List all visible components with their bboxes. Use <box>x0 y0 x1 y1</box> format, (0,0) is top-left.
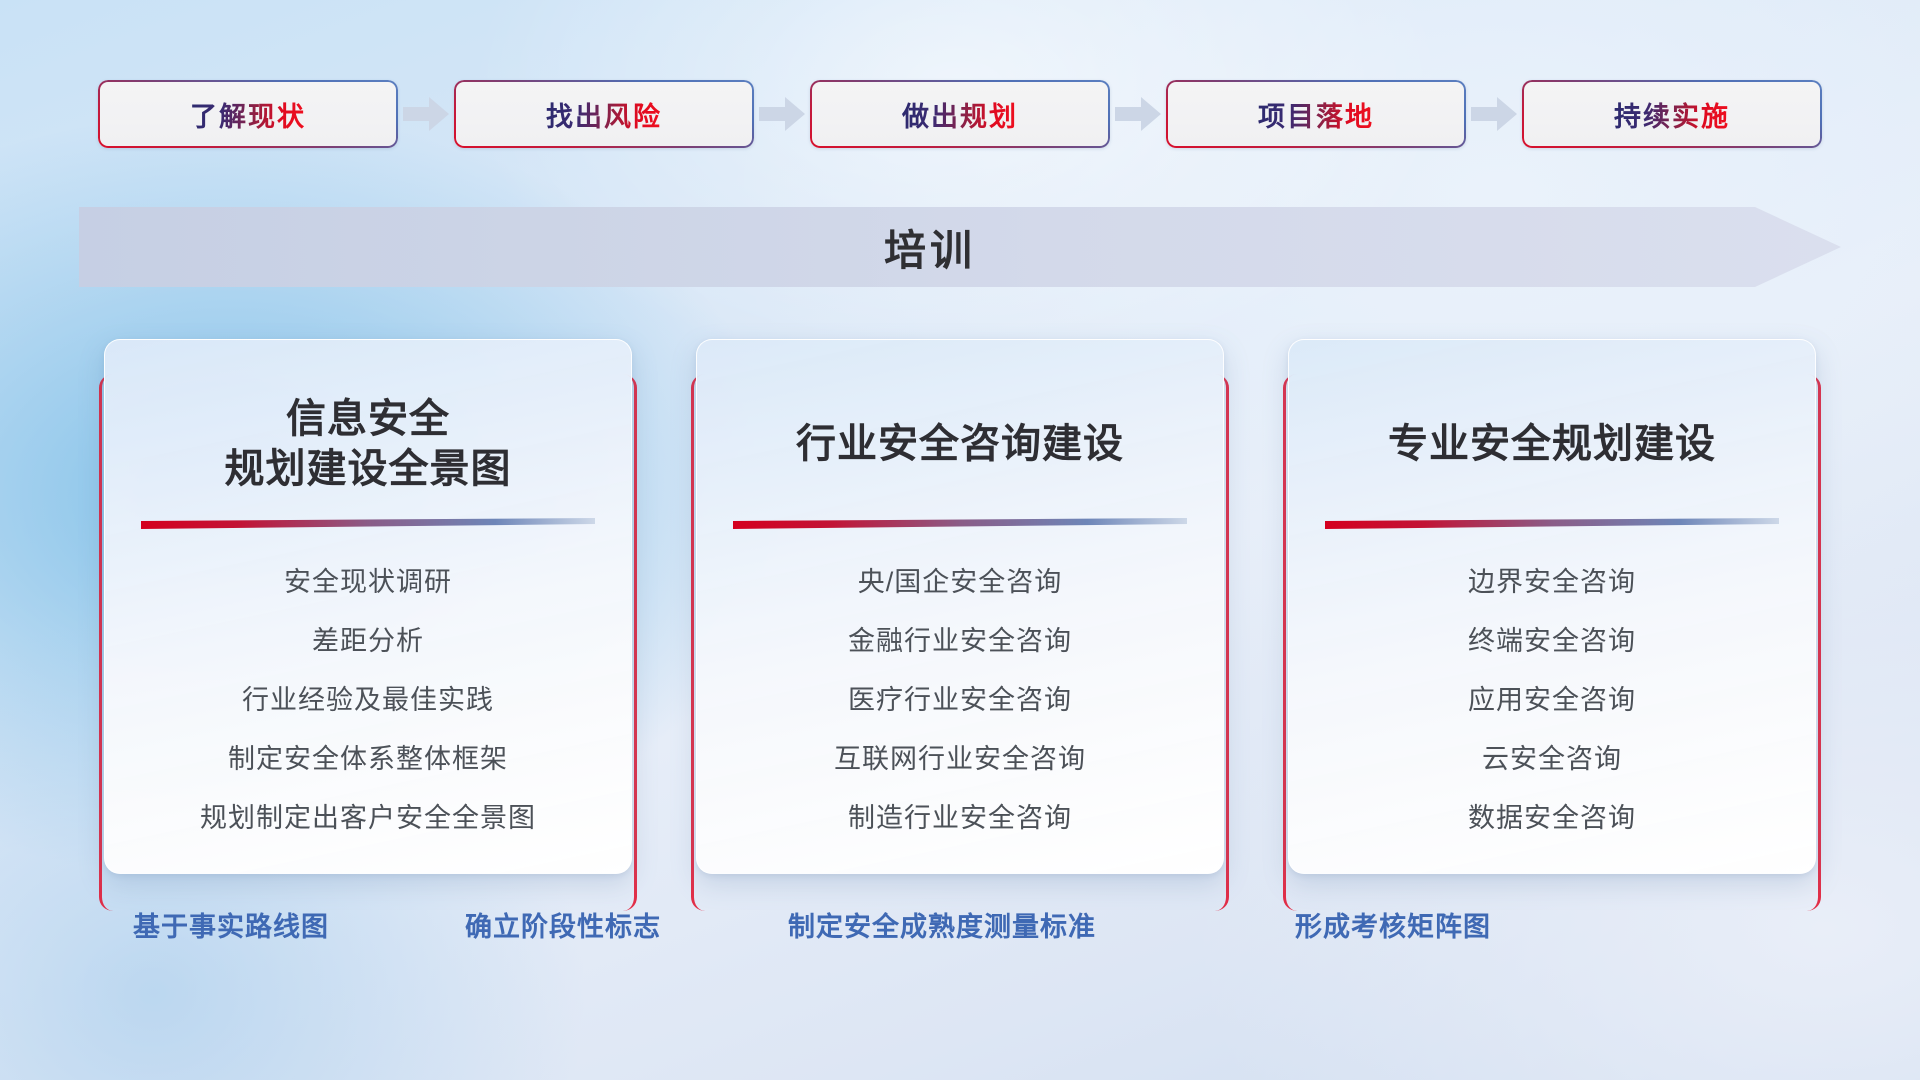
list-item: 规划制定出客户安全全景图 <box>200 796 536 835</box>
list-item: 数据安全咨询 <box>1468 796 1636 835</box>
card-divider <box>733 518 1187 532</box>
process-step-label: 持续实施 <box>1614 95 1730 134</box>
list-item: 金融行业安全咨询 <box>848 619 1072 658</box>
list-item: 央/国企安全咨询 <box>858 560 1063 599</box>
process-step-label: 了解现状 <box>190 95 306 134</box>
outcome-label: 制定安全成熟度测量标准 <box>788 905 1096 944</box>
list-item: 边界安全咨询 <box>1468 560 1636 599</box>
outcome-label: 形成考核矩阵图 <box>1295 905 1491 944</box>
outcome-label: 确立阶段性标志 <box>465 905 661 944</box>
process-step-2[interactable]: 找出风险 <box>454 80 754 148</box>
card-divider <box>141 518 595 532</box>
list-item: 安全现状调研 <box>284 560 452 599</box>
training-banner: 培训 <box>79 207 1841 287</box>
process-step-label: 做出规划 <box>902 95 1018 134</box>
card-divider <box>1325 518 1779 532</box>
card-title: 专业安全规划建设 <box>1315 392 1789 496</box>
banner-label: 培训 <box>79 207 1841 287</box>
list-item: 差距分析 <box>312 619 424 658</box>
process-step-4[interactable]: 项目落地 <box>1166 80 1466 148</box>
list-item: 互联网行业安全咨询 <box>834 737 1086 776</box>
process-step-3[interactable]: 做出规划 <box>810 80 1110 148</box>
card-title: 信息安全 规划建设全景图 <box>131 392 605 496</box>
list-item: 制定安全体系整体框架 <box>228 737 508 776</box>
list-item: 行业经验及最佳实践 <box>242 678 494 717</box>
outcome-labels: 基于事实路线图 确立阶段性标志 制定安全成熟度测量标准 形成考核矩阵图 <box>0 905 1920 957</box>
card-information-security-blueprint[interactable]: 信息安全 规划建设全景图 安全现状调研 差距分析 行业经验及最佳实践 <box>104 339 632 874</box>
process-step-1[interactable]: 了解现状 <box>98 80 398 148</box>
list-item: 云安全咨询 <box>1482 737 1622 776</box>
right-arrow-icon <box>398 79 454 149</box>
card-title: 行业安全咨询建设 <box>723 392 1197 496</box>
list-item: 应用安全咨询 <box>1468 678 1636 717</box>
process-step-label: 项目落地 <box>1258 95 1374 134</box>
card-professional-security-planning[interactable]: 专业安全规划建设 边界安全咨询 终端安全咨询 应用安全咨询 云安全 <box>1288 339 1816 874</box>
right-arrow-icon <box>1110 79 1166 149</box>
right-arrow-icon <box>754 79 810 149</box>
card-item-list: 边界安全咨询 终端安全咨询 应用安全咨询 云安全咨询 数据安全咨询 <box>1315 560 1789 835</box>
card-group: 信息安全 规划建设全景图 安全现状调研 差距分析 行业经验及最佳实践 <box>0 339 1920 874</box>
card-industry-security-consulting[interactable]: 行业安全咨询建设 央/国企安全咨询 金融行业安全咨询 医疗行业安全咨询 <box>696 339 1224 874</box>
list-item: 医疗行业安全咨询 <box>848 678 1072 717</box>
process-step-5[interactable]: 持续实施 <box>1522 80 1822 148</box>
process-steps: 了解现状 找出风险 做出规划 项目落地 持续实施 <box>0 79 1920 149</box>
card-item-list: 央/国企安全咨询 金融行业安全咨询 医疗行业安全咨询 互联网行业安全咨询 制造行… <box>723 560 1197 835</box>
process-step-label: 找出风险 <box>546 95 662 134</box>
list-item: 终端安全咨询 <box>1468 619 1636 658</box>
card-item-list: 安全现状调研 差距分析 行业经验及最佳实践 制定安全体系整体框架 规划制定出客户… <box>131 560 605 835</box>
right-arrow-icon <box>1466 79 1522 149</box>
outcome-label: 基于事实路线图 <box>133 905 329 944</box>
list-item: 制造行业安全咨询 <box>848 796 1072 835</box>
